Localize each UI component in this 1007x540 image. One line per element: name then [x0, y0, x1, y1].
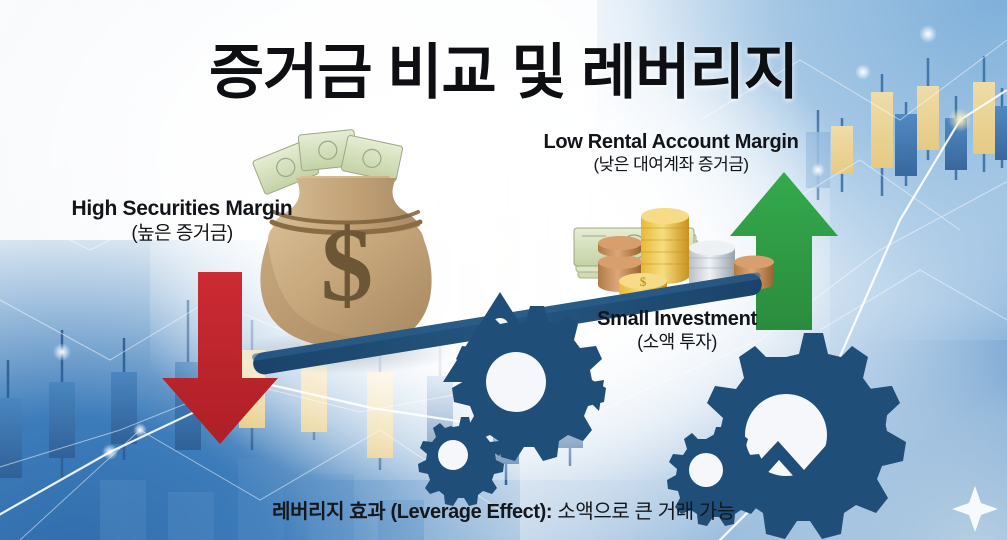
infographic-canvas: $: [0, 0, 1007, 540]
caption-normal: 소액으로 큰 거래 가능: [557, 501, 734, 523]
label-small-investment-en: Small Investment: [566, 309, 788, 331]
label-small-investment-ko: (소액 투자): [566, 333, 788, 352]
label-low-rental-account-margin: Low Rental Account Margin (낮은 대여계좌 증거금): [540, 132, 802, 174]
label-high-securities-margin-ko: (높은 증거금): [56, 224, 308, 245]
label-high-securities-margin: High Securities Margin (높은 증거금): [56, 198, 308, 244]
leverage-effect-caption: 레버리지 효과 (Leverage Effect): 소액으로 큰 거래 가능: [0, 495, 1007, 524]
caption-bold: 레버리지 효과 (Leverage Effect):: [272, 501, 552, 523]
label-low-rental-account-margin-en: Low Rental Account Margin: [540, 132, 802, 154]
svg-text:$: $: [640, 274, 647, 289]
label-high-securities-margin-en: High Securities Margin: [56, 198, 308, 221]
coin-stack-gold-tall: [641, 208, 689, 284]
label-small-investment: Small Investment (소액 투자): [566, 309, 788, 352]
label-low-rental-account-margin-ko: (낮은 대여계좌 증거금): [540, 156, 802, 174]
green-up-arrow-icon: [730, 172, 838, 330]
svg-text:$: $: [321, 206, 374, 323]
page-title: 증거금 비교 및 레버리지: [0, 24, 1007, 111]
